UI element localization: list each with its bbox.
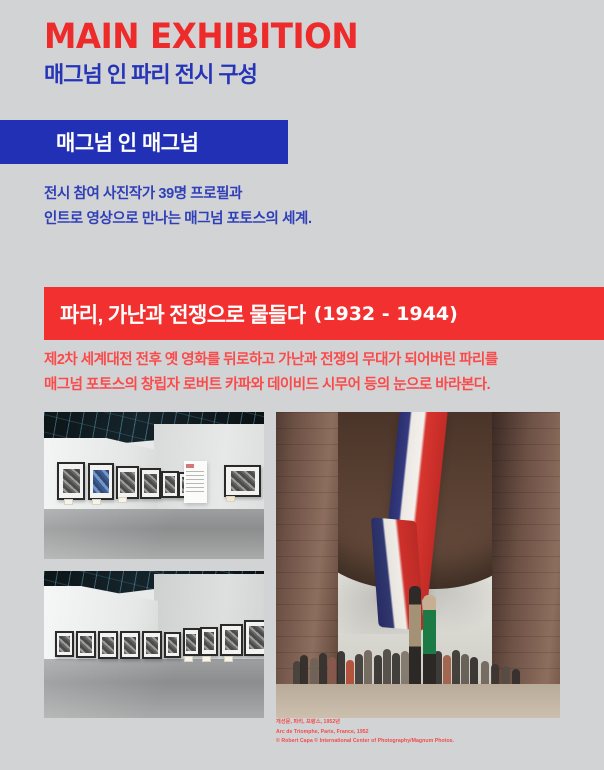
room-illustration — [44, 412, 264, 559]
arc-illustration — [276, 412, 560, 718]
framed-photo — [116, 466, 140, 499]
section-banner-magnum-in-magnum: 매그넘 인 매그넘 — [0, 120, 288, 164]
page-header: MAIN EXHIBITION 매그넘 인 파리 전시 구성 — [44, 18, 564, 88]
couple-figures — [409, 586, 439, 690]
photo-caption: 개선문, 파리, 프랑스, 1952년 Arc de Triomphe, Par… — [276, 718, 566, 747]
gallery-column-right — [276, 412, 560, 718]
exhibition-room-photo-upper — [44, 412, 264, 559]
ground — [276, 684, 560, 718]
placard — [226, 496, 235, 502]
framed-photo — [224, 465, 261, 497]
room-illustration — [44, 571, 264, 718]
framed-photo — [98, 631, 119, 659]
framed-photo — [161, 471, 179, 499]
figure-man — [409, 586, 421, 690]
wall-text-panel — [184, 461, 207, 504]
body-line: 전시 참여 사진작가 39명 프로필과 — [44, 182, 564, 207]
section-banner-paris-poverty-war: 파리, 가난과 전쟁으로 물들다 (1932 - 1944) — [44, 287, 604, 340]
section-banner-years: (1932 - 1944) — [314, 303, 458, 325]
arc-de-triomphe-photo — [276, 412, 560, 718]
framed-photo — [76, 631, 97, 658]
photo-gallery — [44, 412, 560, 718]
section-banner-label: 파리, 가난과 전쟁으로 물들다 — [60, 299, 306, 329]
framed-photo — [164, 632, 181, 658]
placard — [118, 497, 127, 503]
placard — [202, 656, 211, 662]
framed-photo — [200, 627, 218, 656]
framed-photo — [183, 628, 200, 656]
caption-line-credit: © Robert Capa © International Center of … — [276, 737, 566, 747]
caption-line-english: Arc de Triomphe, Paris, France, 1952 — [276, 728, 566, 738]
framed-photo — [88, 463, 114, 499]
framed-photo — [142, 631, 163, 659]
gallery-column-left — [44, 412, 264, 718]
body-line: 인트로 영상으로 만나는 매그넘 포토스의 세계. — [44, 207, 564, 232]
section-banner-label: 매그넘 인 매그넘 — [56, 127, 198, 157]
framed-photo — [57, 462, 85, 500]
body-line: 제2차 세계대전 전후 옛 영화를 뒤로하고 가난과 전쟁의 무대가 되어버린 … — [44, 348, 574, 373]
figure-woman — [423, 595, 436, 691]
body-line: 매그넘 포토스의 창립자 로버트 카파와 데이비드 시무어 등의 눈으로 바라본… — [44, 373, 574, 398]
exhibition-room-photo-lower — [44, 571, 264, 718]
framed-photo — [220, 624, 243, 656]
framed-photo — [120, 631, 141, 659]
placard — [92, 499, 101, 505]
section-body-paris-poverty-war: 제2차 세계대전 전후 옛 영화를 뒤로하고 가난과 전쟁의 무대가 되어버린 … — [44, 348, 574, 398]
placard — [184, 656, 193, 662]
page-subtitle: 매그넘 인 파리 전시 구성 — [44, 62, 564, 88]
placard — [64, 499, 73, 505]
caption-line-korean: 개선문, 파리, 프랑스, 1952년 — [276, 718, 566, 728]
framed-photo — [140, 468, 162, 499]
floor — [44, 659, 264, 718]
page-title: MAIN EXHIBITION — [44, 18, 528, 56]
framed-photo — [244, 620, 264, 656]
framed-photo — [55, 631, 74, 657]
section-body-magnum-in-magnum: 전시 참여 사진작가 39명 프로필과 인트로 영상으로 만나는 매그넘 포토스… — [44, 182, 564, 232]
floor — [44, 509, 264, 559]
placard — [224, 656, 233, 662]
